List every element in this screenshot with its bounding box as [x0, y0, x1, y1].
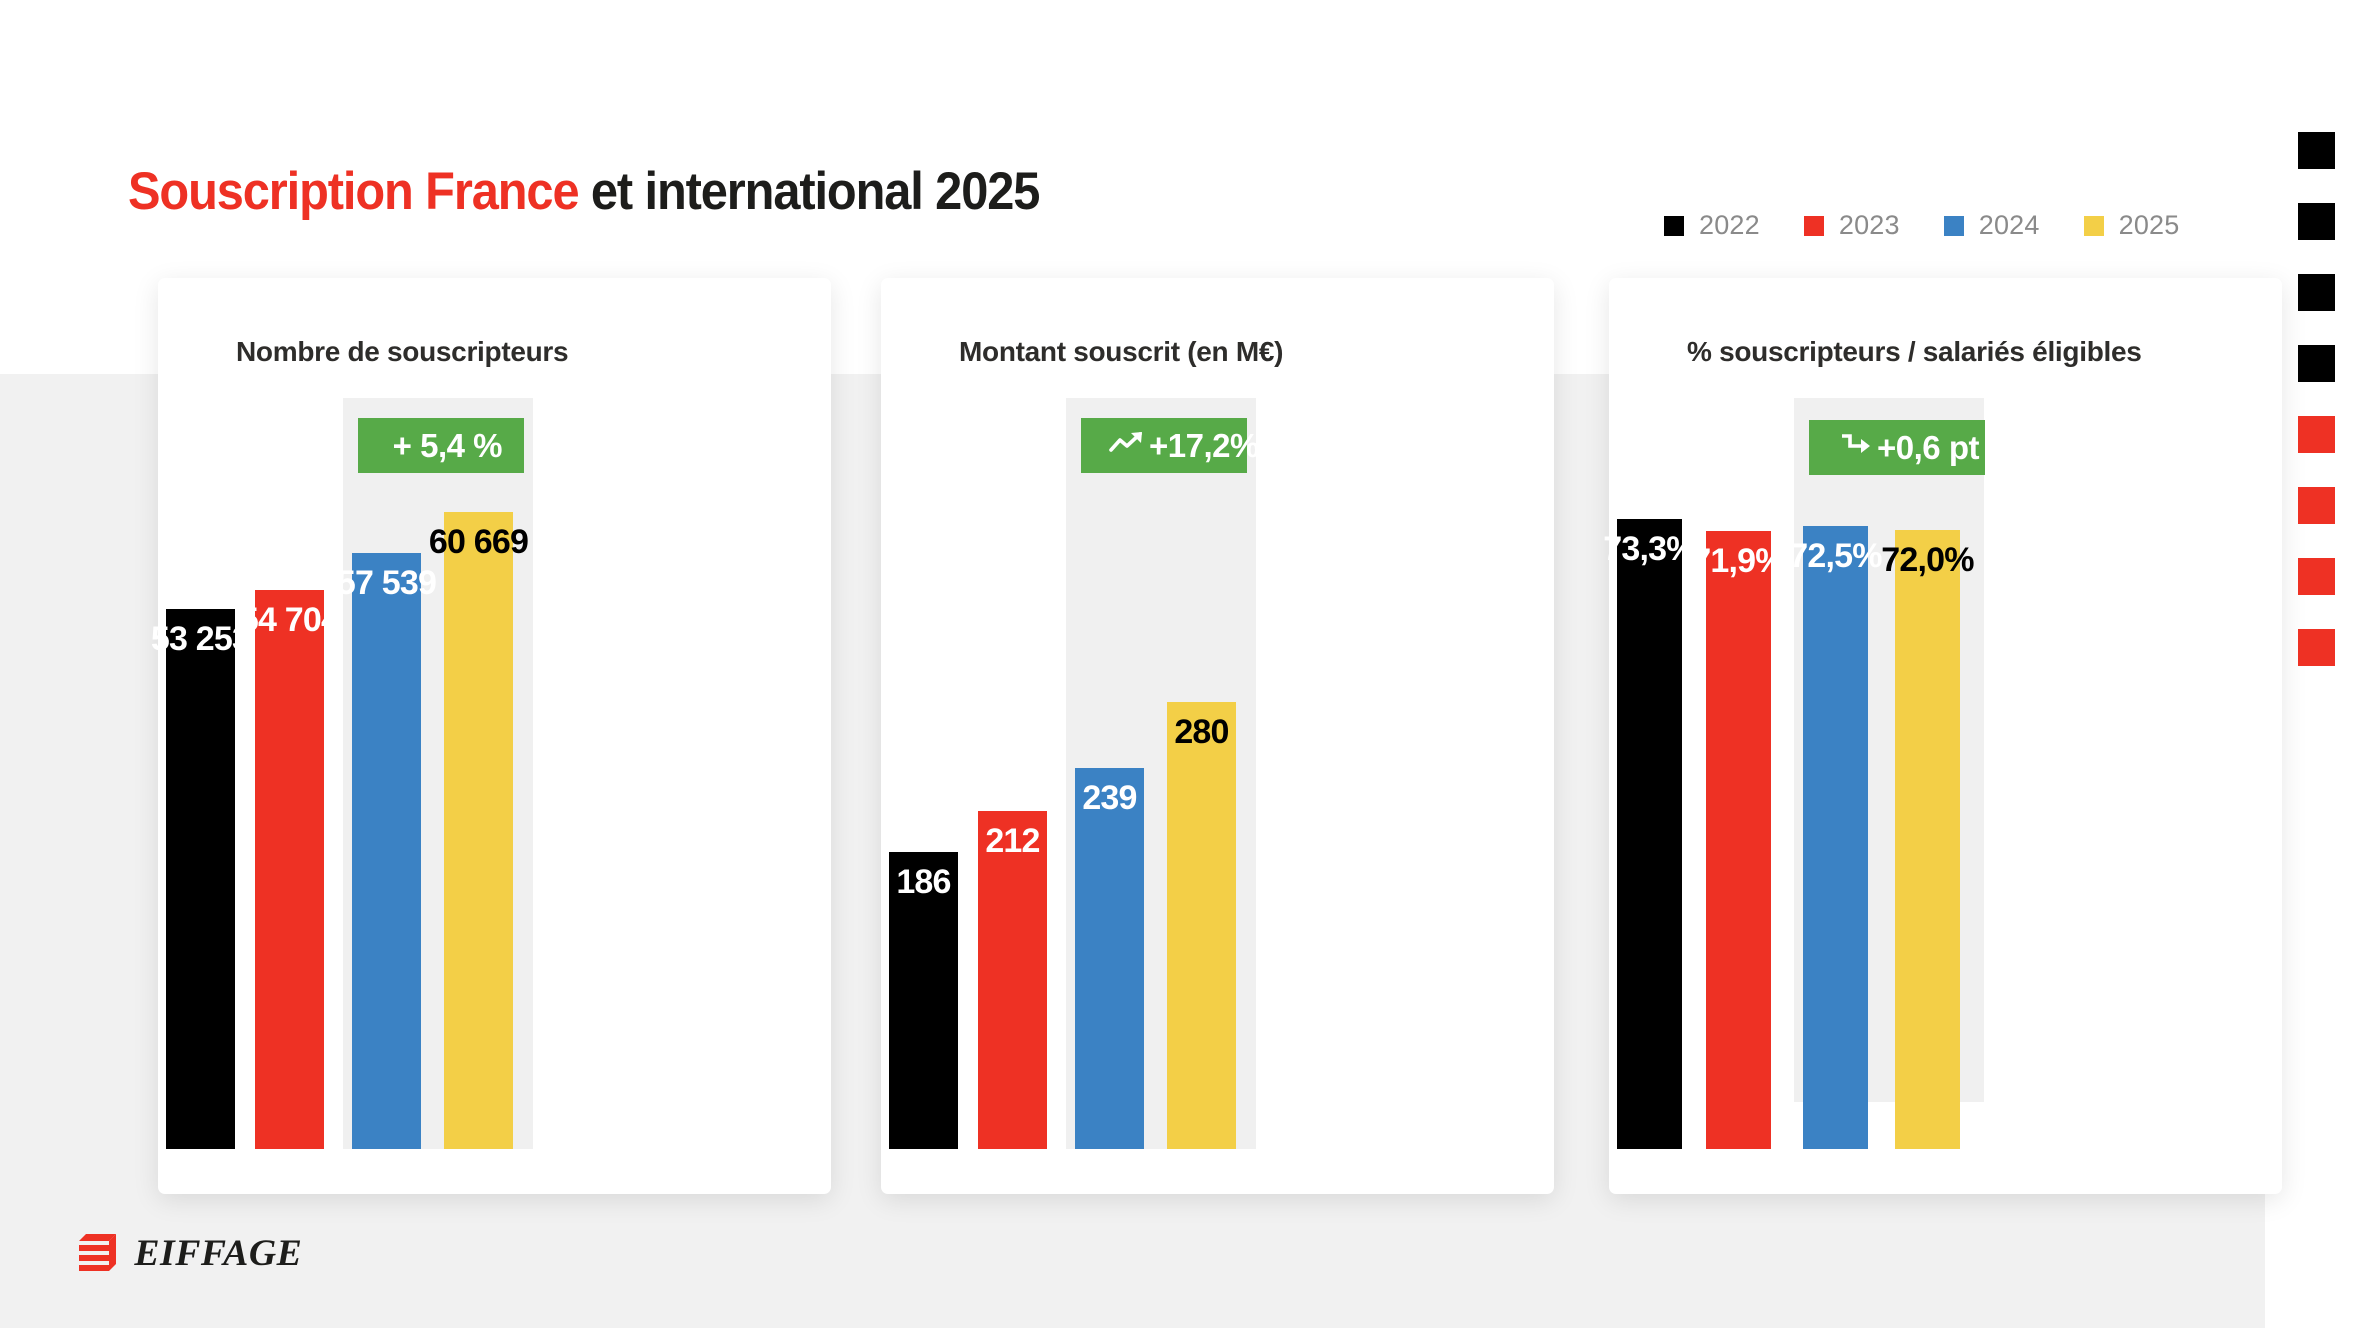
- chart-title: Montant souscrit (en M€): [959, 336, 1283, 368]
- edge-decoration-squares: [2298, 132, 2335, 666]
- growth-badge-value: +0,6 pt: [1877, 429, 1979, 467]
- chart-card-amount: Montant souscrit (en M€) 186 212 239 280…: [881, 278, 1554, 1194]
- bar-2022[interactable]: 73,3%: [1617, 519, 1682, 1149]
- page-title-accent: Souscription France: [128, 162, 578, 221]
- bar-value-label: 57 539: [337, 566, 436, 600]
- chart-title: Nombre de souscripteurs: [236, 336, 568, 368]
- bar-value-label: 72,0%: [1881, 543, 1973, 577]
- chart-plot-area: 53 253 54 704 57 539 60 669 + 5,4 %: [158, 398, 831, 1149]
- bar-value-label: 72,5%: [1789, 539, 1881, 573]
- chart-card-subscribers: Nombre de souscripteurs 53 253 54 704 57…: [158, 278, 831, 1194]
- bar-2024[interactable]: 239: [1075, 768, 1144, 1149]
- bar-2024[interactable]: 72,5%: [1803, 526, 1868, 1149]
- eiffage-wordmark: EIFFAGE: [134, 1232, 302, 1275]
- growth-badge-value: + 5,4 %: [386, 427, 502, 465]
- bar-2025[interactable]: 60 669: [444, 512, 513, 1149]
- chart-plot-area: 186 212 239 280 +17,2%: [881, 398, 1554, 1149]
- legend-label: 2025: [2119, 210, 2180, 241]
- chart-card-rate: % souscripteurs / salariés éligibles 73,…: [1609, 278, 2282, 1194]
- legend-swatch-icon: [1664, 216, 1684, 236]
- growth-badge-value: +17,2%: [1149, 427, 1259, 465]
- legend-item-2024[interactable]: 2024: [1944, 210, 2040, 241]
- eiffage-mark-icon: [76, 1228, 120, 1279]
- bar-value-label: 60 669: [429, 525, 528, 559]
- bar-value-label: 53 253: [151, 622, 250, 656]
- eiffage-logo[interactable]: EIFFAGE: [76, 1228, 301, 1279]
- bar-2022[interactable]: 186: [889, 852, 958, 1149]
- edge-square-black-4: [2298, 345, 2335, 382]
- chart-title: % souscripteurs / salariés éligibles: [1687, 336, 2142, 368]
- trend-up-icon: [1109, 429, 1149, 462]
- chart-legend: 2022 2023 2024 2025: [1664, 210, 2180, 241]
- bar-2023[interactable]: 212: [978, 811, 1047, 1149]
- legend-label: 2022: [1699, 210, 1760, 241]
- edge-square-black-3: [2298, 274, 2335, 311]
- legend-swatch-icon: [2084, 216, 2104, 236]
- bar-value-label: 54 704: [240, 603, 339, 637]
- bar-value-label: 239: [1082, 781, 1136, 815]
- legend-label: 2024: [1979, 210, 2040, 241]
- page-title: Souscription France et international 202…: [128, 161, 1039, 222]
- bar-value-label: 71,9%: [1692, 544, 1784, 578]
- growth-badge[interactable]: +17,2%: [1081, 418, 1247, 473]
- page-title-plain: et international 2025: [578, 162, 1039, 221]
- edge-square-red-4: [2298, 629, 2335, 666]
- step-arrow-icon: [1837, 431, 1877, 464]
- legend-item-2023[interactable]: 2023: [1804, 210, 1900, 241]
- growth-badge[interactable]: +0,6 pt: [1809, 420, 1985, 475]
- edge-square-black-2: [2298, 203, 2335, 240]
- bar-2023[interactable]: 71,9%: [1706, 531, 1771, 1149]
- growth-badge[interactable]: + 5,4 %: [358, 418, 524, 473]
- bar-2024[interactable]: 57 539: [352, 553, 421, 1149]
- legend-item-2022[interactable]: 2022: [1664, 210, 1760, 241]
- legend-swatch-icon: [1944, 216, 1964, 236]
- legend-label: 2023: [1839, 210, 1900, 241]
- bar-2022[interactable]: 53 253: [166, 609, 235, 1149]
- edge-square-black-1: [2298, 132, 2335, 169]
- bar-2025[interactable]: 280: [1167, 702, 1236, 1149]
- legend-swatch-icon: [1804, 216, 1824, 236]
- bar-value-label: 73,3%: [1603, 532, 1695, 566]
- bar-value-label: 280: [1174, 715, 1228, 749]
- bar-value-label: 186: [896, 865, 950, 899]
- edge-square-red-2: [2298, 487, 2335, 524]
- edge-square-red-1: [2298, 416, 2335, 453]
- bar-2025[interactable]: 72,0%: [1895, 530, 1960, 1149]
- bar-2023[interactable]: 54 704: [255, 590, 324, 1149]
- legend-item-2025[interactable]: 2025: [2084, 210, 2180, 241]
- bar-value-label: 212: [985, 824, 1039, 858]
- edge-square-red-3: [2298, 558, 2335, 595]
- chart-plot-area: 73,3% 71,9% 72,5% 72,0% +0,6 pt: [1609, 398, 2282, 1149]
